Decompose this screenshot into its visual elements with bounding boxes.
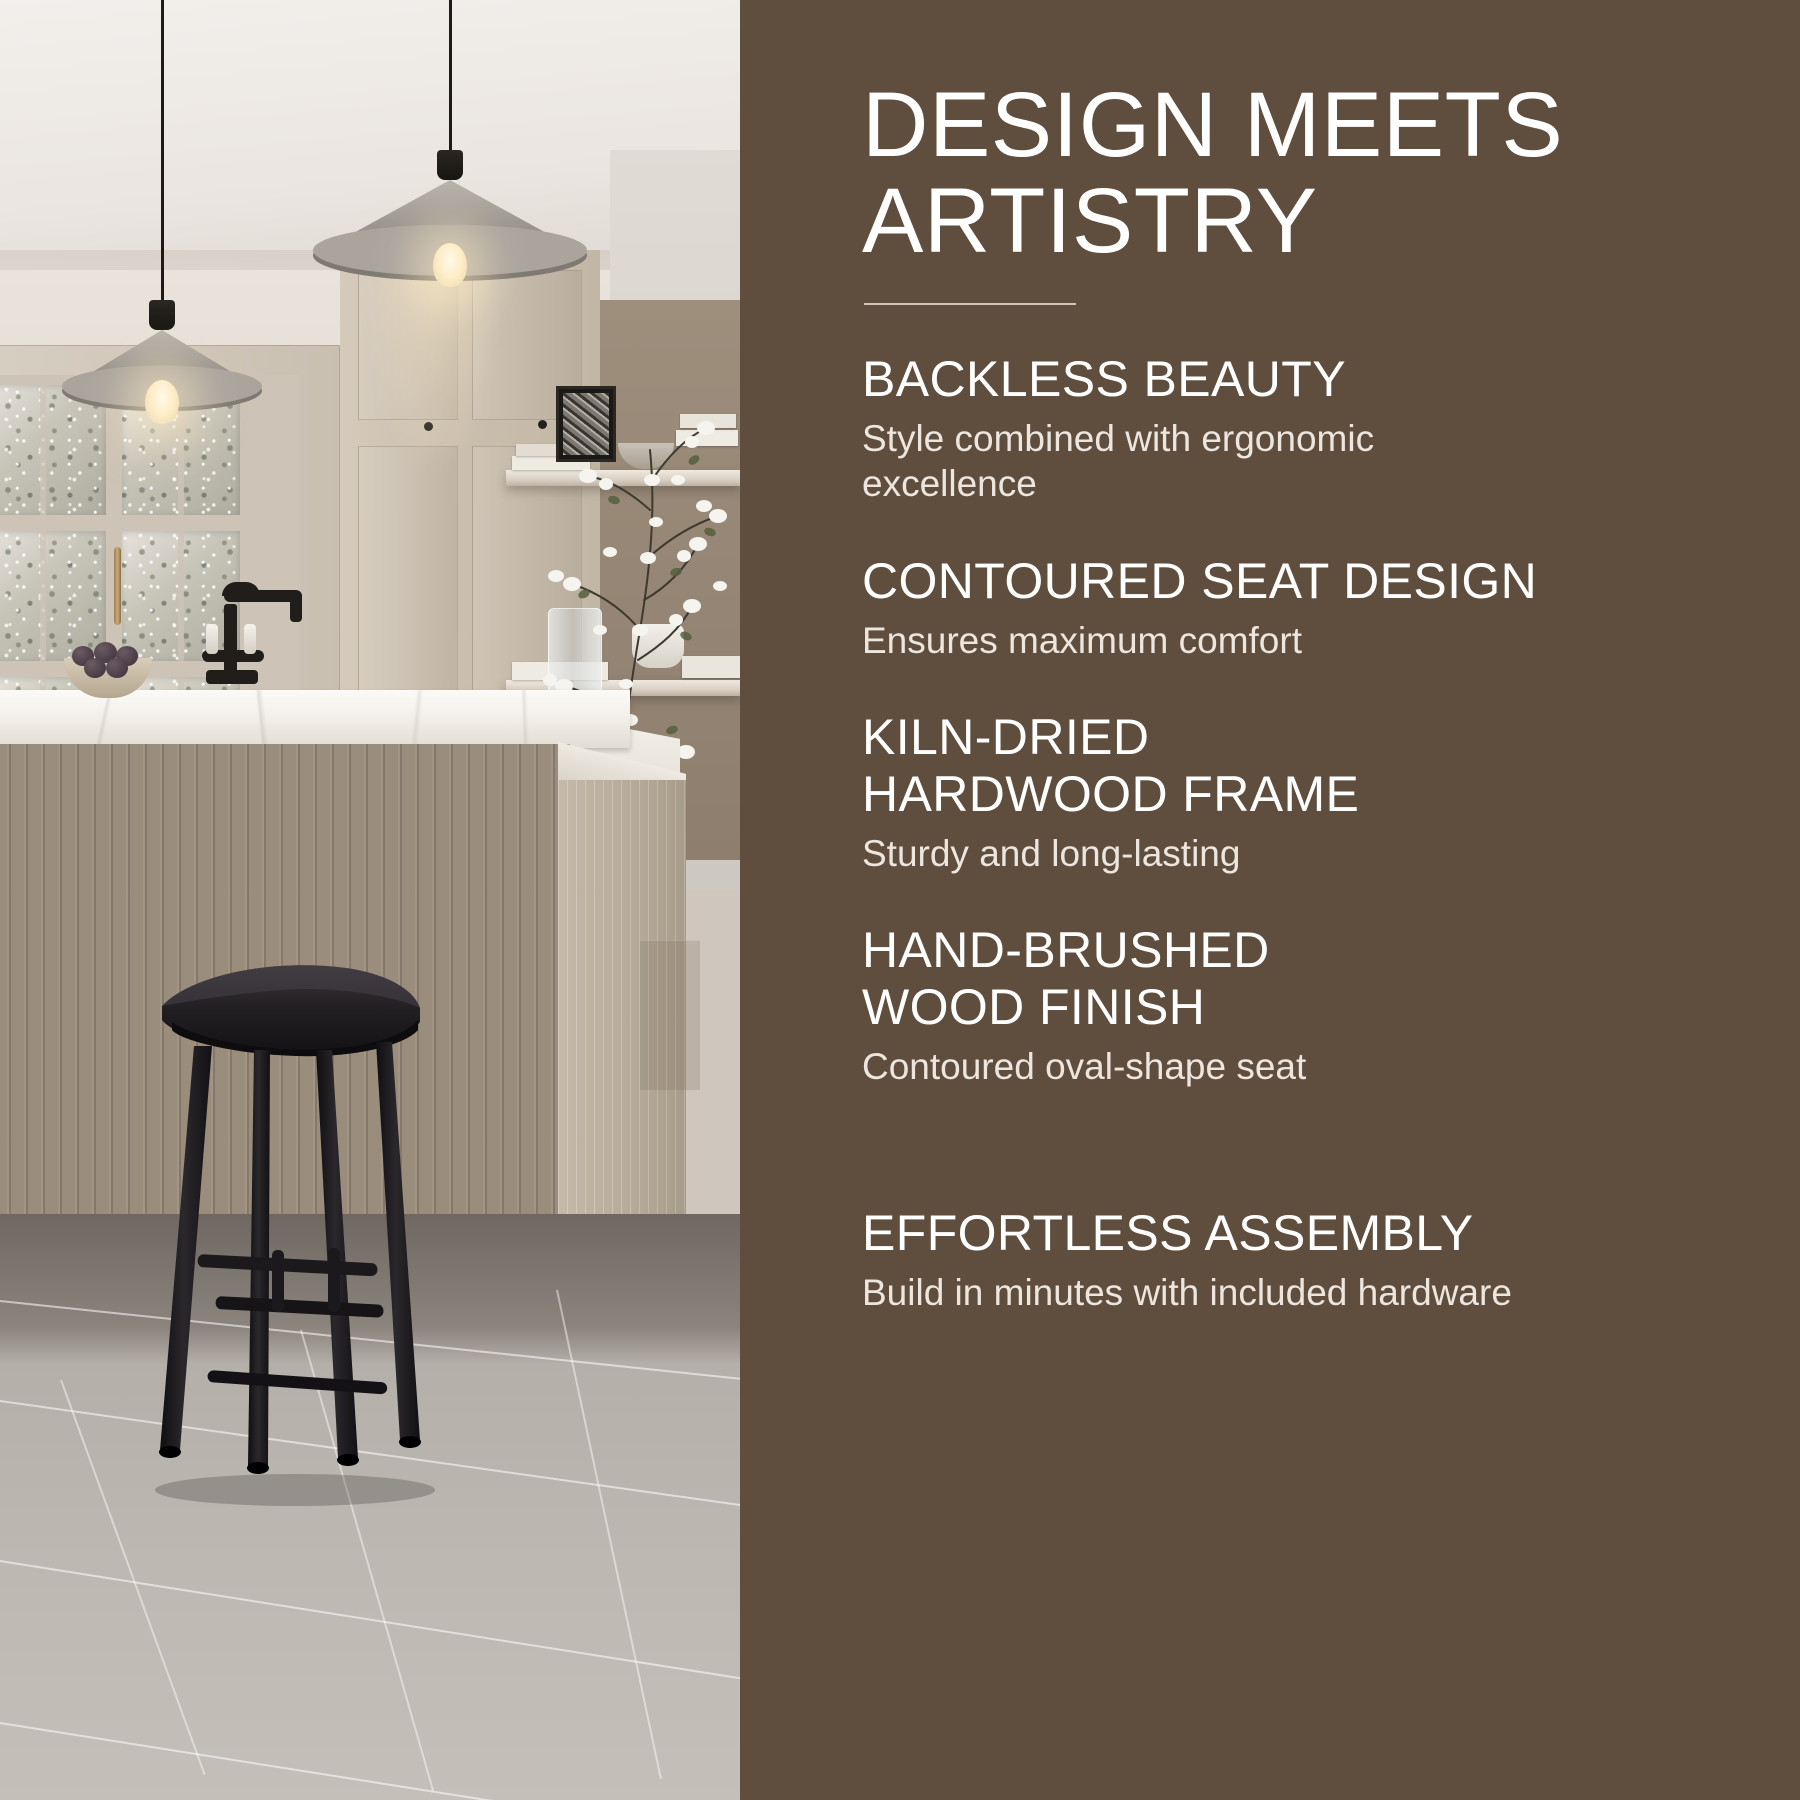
feature-text-panel: DESIGN MEETS ARTISTRY BACKLESS BEAUTY St… — [740, 0, 1800, 1800]
kitchen-lifestyle-photo — [0, 0, 740, 1800]
feature-item-hand-brushed-wood-finish: HAND-BRUSHED WOOD FINISH Contoured oval-… — [862, 922, 1740, 1089]
feature-subtitle: Style combined with ergonomic excellence — [862, 416, 1522, 506]
feature-subtitle: Ensures maximum comfort — [862, 618, 1522, 663]
door-glass-pane-1 — [0, 385, 106, 517]
faucet-gooseneck — [222, 582, 260, 596]
feature-title: CONTOURED SEAT DESIGN — [862, 553, 1740, 610]
feature-list: BACKLESS BEAUTY Style combined with ergo… — [862, 351, 1740, 1315]
feature-title: EFFORTLESS ASSEMBLY — [862, 1205, 1740, 1262]
fruit-5 — [106, 658, 128, 678]
door-handle[interactable] — [114, 547, 121, 625]
faucet-column — [224, 604, 237, 674]
title-divider — [864, 303, 1076, 305]
feature-item-effortless-assembly: EFFORTLESS ASSEMBLY Build in minutes wit… — [862, 1205, 1740, 1315]
feature-item-contoured-seat-design: CONTOURED SEAT DESIGN Ensures maximum co… — [862, 553, 1740, 663]
feature-item-backless-beauty: BACKLESS BEAUTY Style combined with ergo… — [862, 351, 1740, 506]
feature-title: KILN-DRIED HARDWOOD FRAME — [862, 709, 1740, 823]
faucet-spout — [290, 596, 302, 622]
island-inset-panel — [640, 940, 700, 1090]
door-mullion-h1 — [0, 515, 260, 531]
fruit-4 — [84, 658, 106, 678]
faucet-handle-hot[interactable] — [244, 624, 256, 654]
black-bar-stool — [120, 950, 460, 1510]
faucet-handle-cold[interactable] — [206, 624, 218, 654]
feature-item-kiln-dried-hardwood-frame: KILN-DRIED HARDWOOD FRAME Sturdy and lon… — [862, 709, 1740, 876]
feature-subtitle: Contoured oval-shape seat — [862, 1044, 1522, 1089]
page-title: DESIGN MEETS ARTISTRY — [862, 78, 1740, 269]
product-feature-graphic: DESIGN MEETS ARTISTRY BACKLESS BEAUTY St… — [0, 0, 1800, 1800]
feature-title: BACKLESS BEAUTY — [862, 351, 1740, 408]
feature-title: HAND-BRUSHED WOOD FINISH — [862, 922, 1740, 1036]
kitchen-faucet — [196, 574, 316, 704]
feature-subtitle: Build in minutes with included hardware — [862, 1270, 1522, 1315]
door-glass-pane-3 — [0, 531, 106, 663]
feature-subtitle: Sturdy and long-lasting — [862, 831, 1522, 876]
